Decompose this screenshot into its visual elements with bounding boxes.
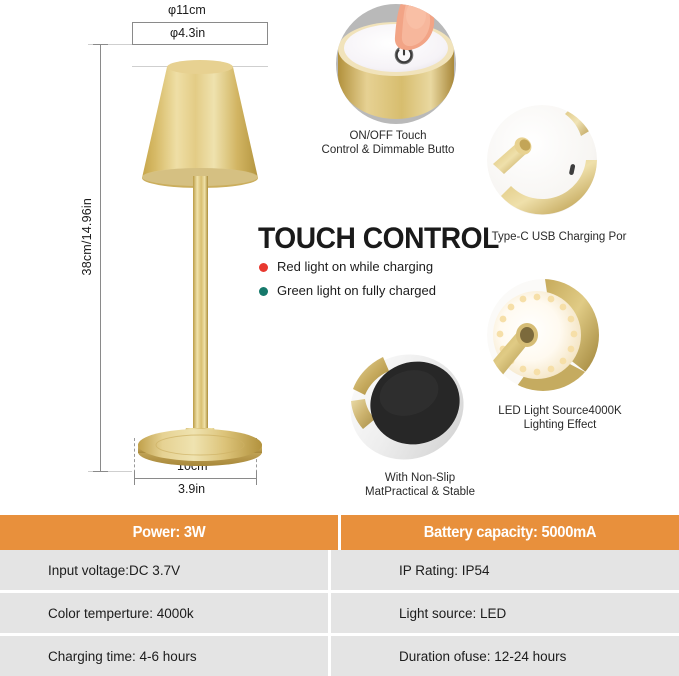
shade-dim-tick-left-cm: [132, 22, 133, 44]
charging-indicator-dot: [259, 263, 268, 272]
touch-button-graphic: [330, 3, 462, 125]
base-diameter-cm-label: 10cm: [177, 459, 208, 473]
shade-dim-line-in: [132, 44, 268, 45]
callout-led-source-image: [483, 278, 603, 393]
height-label: 38cm/14.96in: [80, 198, 94, 275]
shade-diameter-in-label: φ4.3in: [170, 26, 205, 40]
height-tick-bottom: [93, 471, 108, 472]
spec-header-power: Power: 3W: [14, 515, 325, 550]
callout-usb-port-image: [485, 104, 600, 216]
callout-non-slip-mat-caption: With Non-Slip MatPractical & Stable: [325, 471, 515, 499]
charged-indicator-dot: [259, 287, 268, 296]
led-source-graphic: [483, 278, 603, 393]
charged-indicator-label: Green light on fully charged: [277, 283, 436, 299]
height-tick-top: [93, 44, 108, 45]
spec-duration-of-use: Duration ofuse: 12-24 hours: [331, 636, 679, 676]
shade-dim-line-cm: [132, 22, 268, 23]
spec-table: Power: 3W Battery capacity: 5000mA Input…: [0, 515, 679, 672]
shade-diameter-cm-label: φ11cm: [168, 3, 206, 17]
infographic-canvas: φ11cm φ4.3in 38cm/14.96in 10cm 3.9in: [0, 0, 679, 672]
height-dim-line: [100, 44, 101, 472]
touch-control-title: TOUCH CONTROL: [258, 223, 499, 255]
charging-indicator-label: Red light on while charging: [277, 259, 433, 275]
spec-table-body: Input voltage:DC 3.7V IP Rating: IP54 Co…: [0, 550, 679, 676]
spec-color-temperature: Color temperture: 4000k: [0, 593, 328, 633]
callout-touch-button-image: [330, 3, 462, 125]
table-row: Charging time: 4-6 hours Duration ofuse:…: [0, 636, 679, 676]
shade-guide-line: [132, 66, 268, 67]
spec-light-source: Light source: LED: [331, 593, 679, 633]
spec-charging-time: Charging time: 4-6 hours: [0, 636, 328, 676]
non-slip-mat-graphic: [343, 345, 471, 467]
base-dim-line: [134, 478, 256, 479]
base-tick-left: [134, 471, 135, 485]
spec-table-header-row: Power: 3W Battery capacity: 5000mA: [0, 515, 679, 550]
table-row: Color temperture: 4000k Light source: LE…: [0, 593, 679, 636]
callout-led-source-caption: LED Light Source4000K Lighting Effect: [460, 404, 660, 432]
base-tick-right: [256, 471, 257, 485]
base-diameter-in-label: 3.9in: [178, 482, 205, 496]
callout-non-slip-mat-image: [343, 345, 471, 467]
spec-input-voltage: Input voltage:DC 3.7V: [0, 550, 328, 590]
usb-port-graphic: [485, 104, 600, 216]
spec-header-battery: Battery capacity: 5000mA: [355, 515, 666, 550]
spec-ip-rating: IP Rating: IP54: [331, 550, 679, 590]
shade-dim-tick-right-cm: [267, 22, 268, 44]
callout-touch-button-caption: ON/OFF Touch Control & Dimmable Butto: [300, 129, 476, 157]
table-row: Input voltage:DC 3.7V IP Rating: IP54: [0, 550, 679, 593]
header-divider: [338, 515, 341, 550]
